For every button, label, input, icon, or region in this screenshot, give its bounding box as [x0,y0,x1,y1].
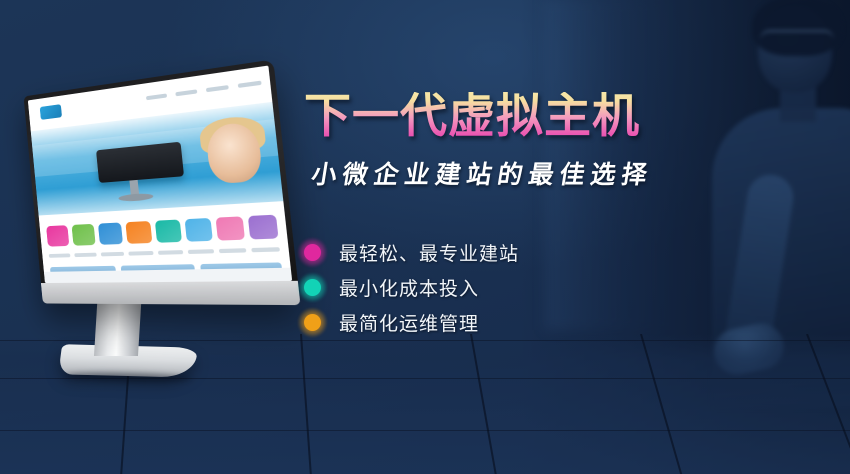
bullet-dot-orange-icon [304,314,321,331]
bullet-dot-teal-icon [304,279,321,296]
website-app-icon [184,218,212,242]
website-app-icon [46,225,69,246]
monitor-bezel-chin [41,281,301,305]
website-app-icon [126,221,152,244]
monitor-screen-content [28,66,292,284]
monitor-screen-frame [24,59,301,305]
banner-headline: 下一代虚拟主机 [304,92,698,141]
feature-label: 最小化成本投入 [339,274,479,301]
feature-label: 最简化运维管理 [339,309,479,336]
banner-subheadline: 小微企业建站的最佳选择 [309,155,701,191]
website-icon-row [39,208,288,253]
website-app-icon [98,222,123,244]
feature-label: 最轻松、最专业建站 [339,239,519,266]
website-hero-product-base [118,193,153,202]
website-app-icon [215,216,245,240]
person-glasses [760,30,834,50]
website-logo-icon [40,104,62,120]
website-app-icon [154,220,181,243]
website-app-icon [72,224,96,246]
desktop-monitor [8,78,298,408]
feature-list: 最轻松、最专业建站最小化成本投入最简化运维管理 [304,235,698,340]
website-menu [146,81,262,101]
promo-banner: 下一代虚拟主机 小微企业建站的最佳选择 最轻松、最专业建站最小化成本投入最简化运… [0,0,850,474]
feature-item: 最轻松、最专业建站 [304,235,698,270]
banner-text-block: 下一代虚拟主机 小微企业建站的最佳选择 最轻松、最专业建站最小化成本投入最简化运… [298,92,698,340]
feature-item: 最简化运维管理 [304,305,698,340]
feature-item: 最小化成本投入 [304,270,698,305]
bullet-dot-magenta-icon [304,244,321,261]
website-app-icon [248,215,279,240]
